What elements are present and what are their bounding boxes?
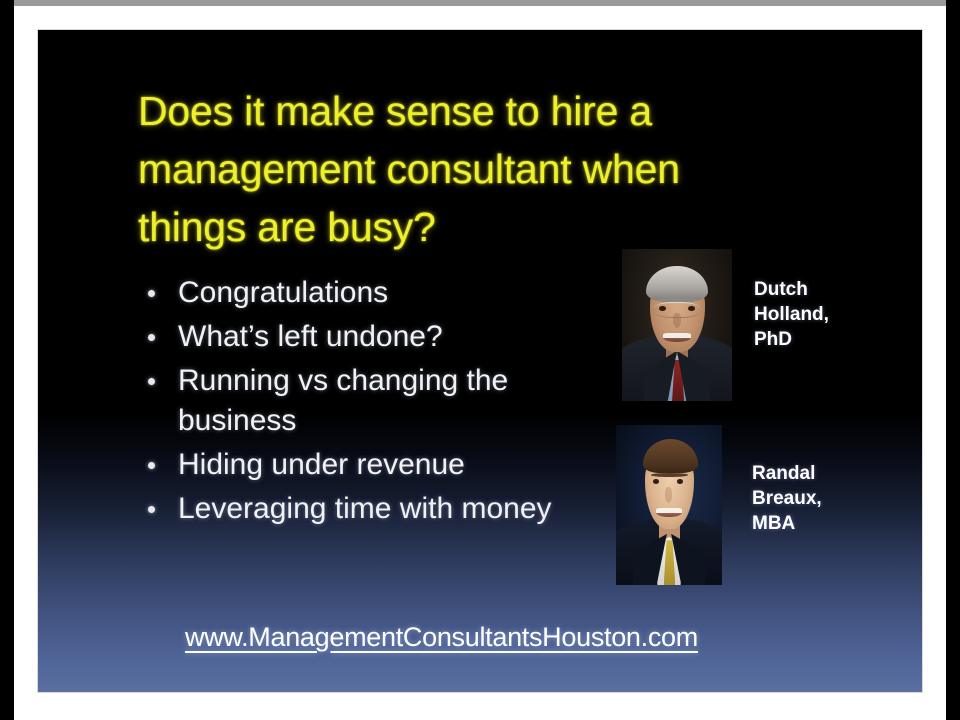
presenter-randal-breaux: Randal Breaux, MBA: [616, 425, 822, 585]
portrait-icon: [622, 249, 732, 401]
bullet-text: Congratulations: [178, 276, 388, 309]
letterbox-right-bar: [946, 0, 960, 720]
bullet-dot-icon: [148, 462, 155, 469]
list-item: What’s left undone?: [138, 317, 608, 357]
list-item: Leveraging time with money: [138, 489, 608, 529]
bullet-text: Running vs changing the business: [178, 364, 508, 437]
letterbox-left-bar: [0, 0, 14, 720]
bullet-text: What’s left undone?: [178, 320, 443, 353]
bullet-dot-icon: [148, 290, 155, 297]
presenter-caption: Dutch Holland, PhD: [754, 277, 829, 352]
slide-bullet-list: Congratulations What’s left undone? Runn…: [138, 273, 608, 533]
bullet-text: Hiding under revenue: [178, 448, 465, 481]
list-item: Running vs changing the business: [138, 361, 608, 441]
presenter-dutch-holland: Dutch Holland, PhD: [622, 249, 829, 401]
bullet-dot-icon: [148, 378, 155, 385]
list-item: Congratulations: [138, 273, 608, 313]
bullet-dot-icon: [148, 334, 155, 341]
bullet-dot-icon: [148, 506, 155, 513]
presenter-photo: [622, 249, 732, 401]
bullet-text: Leveraging time with money: [178, 492, 552, 525]
website-url-link[interactable]: www.ManagementConsultantsHouston.com: [185, 622, 698, 653]
video-viewport: Does it make sense to hire a management …: [0, 0, 960, 720]
presenter-photo: [616, 425, 722, 585]
slide-title: Does it make sense to hire a management …: [138, 82, 798, 256]
list-item: Hiding under revenue: [138, 445, 608, 485]
presentation-slide: Does it make sense to hire a management …: [38, 30, 922, 692]
presenter-caption: Randal Breaux, MBA: [752, 461, 822, 536]
portrait-icon: [616, 425, 722, 585]
